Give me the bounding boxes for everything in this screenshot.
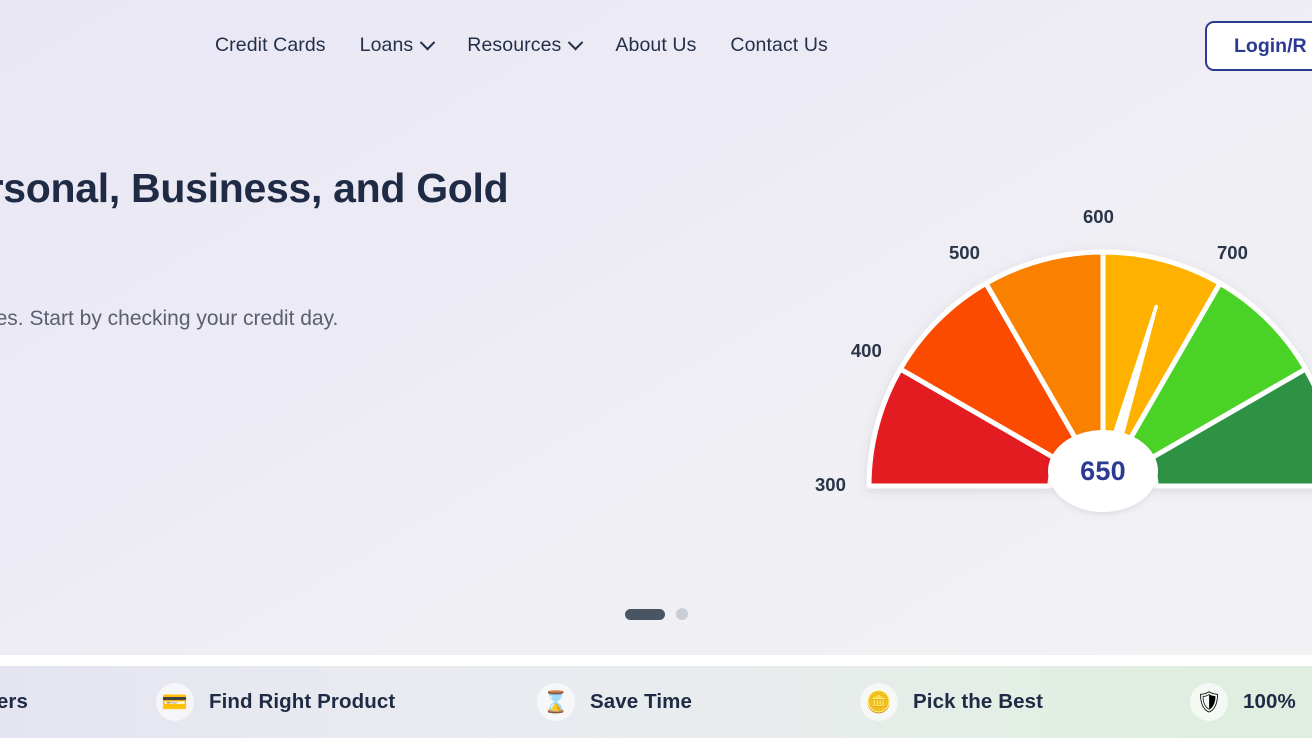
feature-item-find-right-product[interactable]: 💳 Find Right Product bbox=[156, 683, 395, 721]
feature-bar: Offers 💳 Find Right Product ⌛ Save Time … bbox=[0, 666, 1312, 738]
nav-item-credit-cards[interactable]: Credit Cards bbox=[198, 24, 343, 67]
feature-item-secure[interactable]: 🛡 100% bbox=[1190, 683, 1296, 721]
nav-item-about-us[interactable]: About Us bbox=[598, 24, 713, 67]
login-label: Login/R bbox=[1234, 35, 1307, 58]
page-title: Range of Personal, Business, and Gold bbox=[0, 163, 744, 213]
feature-label: Offers bbox=[0, 690, 28, 714]
top-navigation: Credit Cards Loans Resources About Us Co… bbox=[0, 0, 1312, 90]
carousel-dot-2[interactable] bbox=[676, 608, 688, 620]
shield-check-icon: 🛡 bbox=[1190, 683, 1228, 721]
chevron-down-icon bbox=[568, 34, 584, 50]
carousel-dot-1-active[interactable] bbox=[625, 609, 665, 620]
nav-label: About Us bbox=[615, 34, 696, 57]
login-register-button[interactable]: Login/R bbox=[1205, 21, 1312, 71]
nav-label: Credit Cards bbox=[215, 34, 326, 57]
feature-item-save-time[interactable]: ⌛ Save Time bbox=[537, 683, 692, 721]
credit-card-icon: 💳 bbox=[156, 683, 194, 721]
gauge-tick-500: 500 bbox=[949, 242, 980, 264]
hero-description: online with low interest rates. Start by… bbox=[0, 299, 689, 339]
gauge-value-badge: 650 bbox=[1048, 430, 1158, 512]
feature-label: Pick the Best bbox=[913, 690, 1043, 714]
gauge-value-text: 650 bbox=[1080, 456, 1126, 487]
hourglass-icon: ⌛ bbox=[537, 683, 575, 721]
gauge-tick-700: 700 bbox=[1217, 242, 1248, 264]
nav-item-resources[interactable]: Resources bbox=[450, 24, 598, 67]
feature-item-offers[interactable]: Offers bbox=[0, 683, 28, 721]
feature-label: Save Time bbox=[590, 690, 692, 714]
gauge-tick-400: 400 bbox=[851, 340, 882, 362]
gauge-tick-300: 300 bbox=[815, 474, 846, 496]
nav-item-contact-us[interactable]: Contact Us bbox=[713, 24, 844, 67]
feature-label: Find Right Product bbox=[209, 690, 395, 714]
nav-item-loans[interactable]: Loans bbox=[343, 24, 451, 67]
nav-label: Contact Us bbox=[730, 34, 827, 57]
feature-item-pick-the-best[interactable]: 🪙 Pick the Best bbox=[860, 683, 1043, 721]
page-root: Credit Cards Loans Resources About Us Co… bbox=[0, 0, 1312, 738]
nav-label: Resources bbox=[467, 34, 561, 57]
carousel-pagination bbox=[0, 608, 1312, 620]
feature-label: 100% bbox=[1243, 690, 1296, 714]
nav-label: Loans bbox=[360, 34, 414, 57]
hero-copy: Range of Personal, Business, and Gold on… bbox=[0, 163, 744, 449]
nav-links: Credit Cards Loans Resources About Us Co… bbox=[198, 24, 845, 67]
gauge-tick-600: 600 bbox=[1083, 206, 1114, 228]
chevron-down-icon bbox=[420, 34, 436, 50]
compare-coins-icon: 🪙 bbox=[860, 683, 898, 721]
